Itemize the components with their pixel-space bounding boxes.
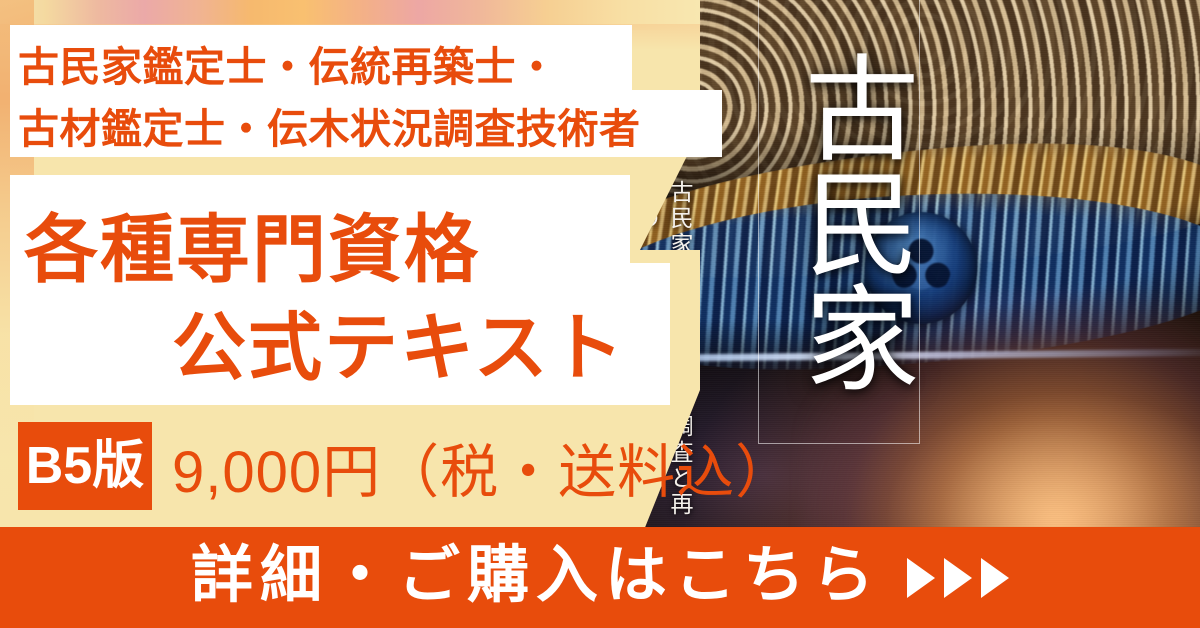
cta-label: 詳細・ご購入はこちら bbox=[191, 545, 881, 607]
headline-line-2: 古材鑑定士・伝木状況調査技術者 bbox=[18, 95, 641, 155]
title-line-1: 各種専門資格 bbox=[24, 190, 480, 297]
play-arrow-icon bbox=[907, 558, 935, 598]
promo-banner: 古民家 伝統構法 古民家活用のための調査と再生の 古民家鑑定士・伝統再築士・ 古… bbox=[0, 0, 1200, 628]
play-arrow-icon bbox=[944, 558, 972, 598]
play-arrow-icon bbox=[981, 558, 1009, 598]
price-text: 9,000円（税・送料込） bbox=[172, 425, 794, 509]
cta-arrows bbox=[907, 558, 1009, 598]
title-line-2: 公式テキスト bbox=[172, 288, 626, 395]
format-badge: B5版 bbox=[18, 422, 152, 510]
cover-main-title: 古民家 bbox=[760, 6, 918, 436]
headline-line-1: 古民家鑑定士・伝統再築士・ bbox=[18, 33, 558, 93]
cta-button[interactable]: 詳細・ご購入はこちら bbox=[0, 527, 1200, 628]
